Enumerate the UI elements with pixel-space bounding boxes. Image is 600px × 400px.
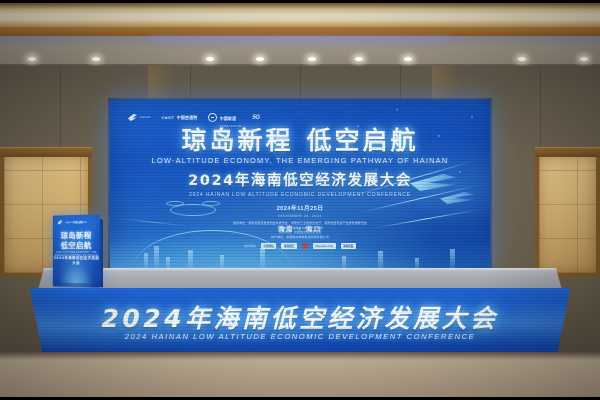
conference-stage-photo: HAINAN CAICT 中国信通院 中国联通 CHINA UNICOM 5G … [0, 0, 600, 400]
building-silhouette [378, 251, 383, 270]
building-silhouette [144, 253, 148, 270]
building-silhouette [450, 249, 455, 270]
drone-rotor [202, 201, 220, 206]
headline-cn-left: 琼岛新程 [181, 126, 293, 155]
conference-date-chinese: 2024年11月25日 [110, 204, 490, 212]
rollup-logo-row: CAICT 中国信通院 5G [58, 220, 87, 225]
downlight [518, 57, 526, 61]
hainan-emblem-icon [128, 114, 137, 121]
drone-rotor [166, 201, 184, 206]
logo-caict: CAICT 中国信通院 [162, 115, 198, 121]
building-silhouette [154, 246, 159, 270]
downlight [256, 57, 264, 61]
panel-cornice [0, 147, 92, 157]
downlight [404, 57, 412, 61]
logo-sub: HAINAN [140, 116, 151, 119]
decorative-wall-panel-right [535, 152, 600, 277]
downlight [28, 57, 36, 61]
building-silhouette [260, 248, 265, 270]
building-silhouette [220, 255, 224, 270]
logo-text-cn: 中国信通院 [177, 115, 198, 121]
stage-deck-highlight [38, 268, 562, 271]
hainan-emblem-icon [58, 220, 63, 224]
led-backdrop-screen: HAINAN CAICT 中国信通院 中国联通 CHINA UNICOM 5G … [110, 100, 490, 272]
logo-text-cn: 中国联通 [220, 116, 236, 121]
downlight [206, 57, 214, 61]
downlight [92, 57, 100, 61]
stage-shadow [0, 352, 600, 360]
stage-banner-title-chinese: 2024年海南低空经济发展大会 [30, 299, 570, 335]
downlight [355, 57, 363, 61]
unicom-icon [208, 113, 217, 122]
rollup-headline-line2: 低空启航 [53, 240, 100, 251]
rollup-banner: CAICT 中国信通院 5G 琼岛新程 低空启航 LOW-ALTITUDE EC… [53, 214, 100, 287]
logo-hainan-emblem: HAINAN [128, 114, 151, 121]
logo-5g: 5G [252, 115, 259, 121]
rollup-logo-text: CAICT 中国信通院 5G [65, 220, 86, 224]
headline-block: 琼岛新程低空启航 LOW-ALTITUDE ECONOMY, THE EMERG… [110, 128, 490, 233]
headline-english: LOW-ALTITUDE ECONOMY, THE EMERGING PATHW… [110, 156, 490, 165]
city-skyline-graphic [110, 226, 490, 272]
stage-banner-title-english: 2024 HAINAN LOW ALTITUDE ECONOMIC DEVELO… [30, 332, 570, 341]
headline-chinese: 琼岛新程低空启航 [110, 128, 490, 154]
building-silhouette [188, 250, 193, 270]
headline-cn-right: 低空启航 [307, 126, 419, 155]
conference-date-english: NOVEMBER 25, 2024 [110, 214, 490, 218]
ceiling-glow [150, 36, 450, 46]
stage-deck [38, 268, 562, 290]
building-silhouette [342, 256, 346, 270]
conference-title-chinese: 2024年海南低空经济发展大会 [110, 169, 490, 190]
partner-logo-bar: HAINAN CAICT 中国信通院 中国联通 CHINA UNICOM 5G [128, 107, 260, 128]
ceiling-cove-trim [0, 27, 600, 36]
logo-text: CAICT [162, 115, 175, 120]
conference-title-english: 2024 HAINAN LOW ALTITUDE ECONOMIC DEVELO… [110, 192, 490, 198]
rollup-drone-graphic [59, 263, 94, 284]
logo-text: 5G [252, 115, 259, 121]
logo-china-unicom: 中国联通 CHINA UNICOM [208, 107, 241, 128]
panel-cornice [535, 147, 600, 157]
downlight [580, 57, 588, 61]
letterbox-bar-top [0, 0, 600, 3]
downlight [308, 57, 316, 61]
stage-front-banner: 2024年海南低空经济发展大会 2024 HAINAN LOW ALTITUDE… [30, 288, 570, 352]
